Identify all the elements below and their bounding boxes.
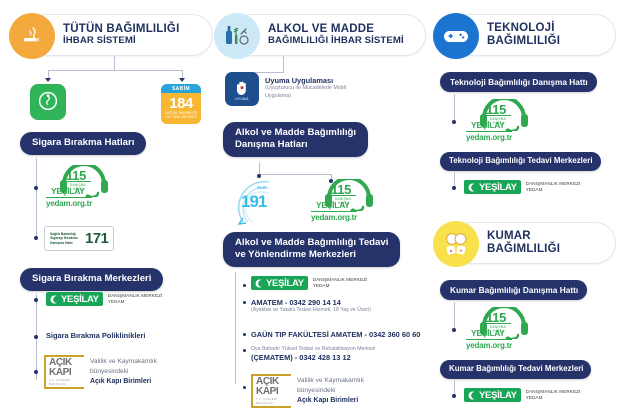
connector bbox=[36, 158, 37, 238]
yedam-subtitle: DANIŞMANLIK MERKEZİ YEDAM bbox=[526, 389, 581, 401]
yesilay-brand: YEŞİLAY bbox=[471, 120, 505, 130]
connector-dot bbox=[452, 186, 456, 190]
connector-dot bbox=[34, 186, 38, 190]
section-header-teknoloji-tedavi-merkezleri[interactable]: Teknoloji Bağımlılığı Tedavi Merkezleri bbox=[440, 150, 601, 171]
yedam-url[interactable]: yedam.org.tr bbox=[311, 211, 357, 222]
section-title: Alkol ve Madde Bağımlılığı Tedavi ve Yön… bbox=[223, 232, 400, 267]
category-title-line1: KUMAR bbox=[487, 230, 560, 243]
amatem-phone: AMATEM - 0342 290 14 14 bbox=[251, 298, 371, 307]
connector bbox=[283, 56, 284, 72]
connector-dot bbox=[34, 298, 38, 302]
acik-kapi-line2: bünyesindeki bbox=[90, 367, 157, 377]
section-title: Teknoloji Bağımlılığı Tedavi Merkezleri bbox=[440, 152, 601, 171]
sabim-label: SABİM bbox=[161, 84, 201, 93]
column-teknoloji-kumar: TEKNOLOJİ BAĞIMLILIĞI Teknoloji Bağımlıl… bbox=[432, 0, 618, 413]
category-header-teknoloji[interactable]: TEKNOLOJİ BAĞIMLILIĞI bbox=[450, 14, 616, 56]
yesilay-yedam-logo[interactable]: YEŞİLAY DANIŞMANLIK MERKEZİ YEDAM bbox=[464, 388, 580, 402]
section-title: Sigara Bırakma Merkezleri bbox=[20, 268, 163, 291]
yesilay-bar: YEŞİLAY bbox=[46, 292, 103, 306]
column-alkol-madde: ALKOL VE MADDE BAĞIMLILIĞI İHBAR SİSTEMİ… bbox=[213, 0, 428, 413]
category-title-line2: BAĞIMLILIĞI bbox=[487, 243, 560, 256]
yesilay-brand: YEŞİLAY bbox=[61, 294, 99, 305]
crescent-icon bbox=[253, 278, 264, 289]
section-title: Alkol ve Madde Bağımlılığı Danışma Hatla… bbox=[223, 122, 368, 157]
acik-kapi-logo-line3: T.C. İÇİŞLERİ BAKANLIĞI bbox=[256, 397, 291, 405]
yesilay-bar: YEŞİLAY bbox=[464, 388, 521, 402]
section-title: Teknoloji Bağımlılığı Danışma Hattı bbox=[440, 72, 597, 92]
yedam-sub2: YEDAM bbox=[526, 395, 581, 401]
bullet bbox=[243, 284, 246, 287]
yesilay-yedam-logo[interactable]: YEŞİLAY DANIŞMANLIK MERKEZİ YEDAM bbox=[46, 292, 162, 306]
alo-171-badge[interactable]: Sağlık Bakanlığı Sigarayı Bırakma Danışm… bbox=[44, 226, 114, 251]
section-header-alkol-tedavi-merkezleri[interactable]: Alkol ve Madde Bağımlılığı Tedavi ve Yön… bbox=[223, 232, 400, 267]
connector bbox=[259, 174, 331, 175]
bullet bbox=[243, 386, 246, 389]
connector-arrow bbox=[179, 78, 185, 82]
alo-184-number: 184 bbox=[161, 93, 201, 111]
yedam-subtitle: DANIŞMANLIK MERKEZİ YEDAM bbox=[108, 293, 163, 305]
crescent-icon bbox=[466, 182, 477, 193]
yesilay-bar: YEŞİLAY bbox=[251, 276, 308, 290]
uyuma-title: Uyuma Uygulaması bbox=[265, 76, 346, 85]
yedam-sub2: YEDAM bbox=[313, 283, 368, 289]
section-header-kumar-danisma-hatti[interactable]: Kumar Bağımlılığı Danışma Hattı bbox=[440, 280, 587, 300]
uyuma-sub1: (Uyuşturucu ile Mücadelede Mobil bbox=[265, 85, 346, 93]
connector bbox=[182, 70, 183, 78]
connector bbox=[259, 162, 260, 174]
column-tutun: TÜTÜN BAĞIMLILIĞI İHBAR SİSTEMİ SABİM 18… bbox=[8, 0, 213, 413]
yedam-url[interactable]: yedam.org.tr bbox=[466, 339, 512, 350]
alo-184-caption: SAĞLIK BAKANLIĞI İLETİŞİM MERKEZİ bbox=[161, 111, 201, 119]
acik-kapi-item[interactable]: AÇIK KAPI T.C. İÇİŞLERİ BAKANLIĞI Valili… bbox=[44, 355, 157, 389]
section-header-alkol-danisma-hatlari[interactable]: Alkol ve Madde Bağımlılığı Danışma Hatla… bbox=[223, 122, 368, 157]
bullet bbox=[243, 333, 246, 336]
section-title-line1: Alkol ve Madde Bağımlılığı bbox=[235, 127, 356, 139]
category-header-kumar[interactable]: KUMAR BAĞIMLILIĞI bbox=[450, 222, 616, 264]
yesilay-115-logo[interactable]: 115 DANIŞMA HATTI YEŞİLAY yedam.org.tr bbox=[44, 164, 118, 210]
connector bbox=[114, 56, 115, 70]
acik-kapi-line1: Valilik ve Kaymakamlık bbox=[297, 376, 364, 386]
yesilay-115-logo[interactable]: 115 DANIŞMA HATTI YEŞİLAY yedam.org.tr bbox=[464, 98, 538, 144]
yedam-url[interactable]: yedam.org.tr bbox=[46, 197, 92, 208]
yesilay-brand: YEŞİLAY bbox=[471, 328, 505, 338]
category-title-line2: BAĞIMLILIĞI bbox=[487, 35, 560, 48]
cematem-phone: (ÇEMATEM) - 0342 428 13 12 bbox=[251, 353, 375, 362]
connector bbox=[48, 70, 49, 78]
yesilay-yedam-logo[interactable]: YEŞİLAY DANIŞMANLIK MERKEZİ YEDAM bbox=[243, 276, 367, 290]
yesilay-yedam-logo[interactable]: YEŞİLAY DANIŞMANLIK MERKEZİ YEDAM bbox=[464, 180, 580, 194]
acik-kapi-text: Valilik ve Kaymakamlık bünyesindeki Açık… bbox=[90, 357, 157, 386]
yedam-subtitle: DANIŞMANLIK MERKEZİ YEDAM bbox=[526, 181, 581, 193]
yedam-subtitle: DANIŞMANLIK MERKEZİ YEDAM bbox=[313, 277, 368, 289]
sigara-birakma-poliklinikleri-label: Sigara Bırakma Poliklinikleri bbox=[46, 331, 145, 340]
yesilay-115-logo[interactable]: 115 DANIŞMA HATTI YEŞİLAY yedam.org.tr bbox=[309, 178, 383, 224]
yesilay-bar: YEŞİLAY bbox=[464, 180, 521, 194]
section-title-line2: ve Yönlendirme Merkezleri bbox=[235, 249, 388, 261]
crescent-icon bbox=[48, 294, 59, 305]
acik-kapi-logo: AÇIK KAPI T.C. İÇİŞLERİ BAKANLIĞI bbox=[251, 374, 291, 408]
yesilay-brand: YEŞİLAY bbox=[479, 390, 517, 401]
yesilay-115-logo[interactable]: 115 DANIŞMA HATTI YEŞİLAY yedam.org.tr bbox=[464, 306, 538, 352]
yedam-url[interactable]: yedam.org.tr bbox=[466, 131, 512, 142]
category-title-line2: BAĞIMLILIĞI İHBAR SİSTEMİ bbox=[268, 36, 404, 47]
connector bbox=[48, 70, 182, 71]
connector-dot bbox=[34, 335, 38, 339]
uyuma-sub2: Uygulama) bbox=[265, 93, 346, 101]
connector-arrow bbox=[45, 78, 51, 82]
uyuma-logo-label: UYUMA bbox=[235, 97, 249, 101]
connector-dot bbox=[452, 394, 456, 398]
alo-191-logo[interactable]: ALO 191 bbox=[235, 178, 297, 226]
yedam-sub2: YEDAM bbox=[108, 299, 163, 305]
section-title: Sigara Bırakma Hatları bbox=[20, 132, 146, 155]
acik-kapi-logo-line3: T.C. İÇİŞLERİ BAKANLIĞI bbox=[49, 378, 84, 386]
acik-kapi-item[interactable]: AÇIK KAPI T.C. İÇİŞLERİ BAKANLIĞI Valili… bbox=[243, 374, 364, 408]
acik-kapi-text: Valilik ve Kaymakamlık bünyesindeki Açık… bbox=[297, 376, 364, 405]
alo-label: ALO bbox=[257, 185, 266, 190]
connector bbox=[235, 272, 236, 384]
acik-kapi-logo: AÇIK KAPI T.C. İÇİŞLERİ BAKANLIĞI bbox=[44, 355, 84, 389]
gaun-amatem-entry[interactable]: GAÜN TIP FAKÜLTESİ AMATEM - 0342 360 60 … bbox=[243, 330, 433, 339]
alo-171-caption: Sağlık Bakanlığı Sigarayı Bırakma Danışm… bbox=[50, 232, 82, 245]
category-title-line2: İHBAR SİSTEMİ bbox=[63, 36, 179, 47]
acik-kapi-line1: Valilik ve Kaymakamlık bbox=[90, 357, 157, 367]
connector-dot bbox=[452, 328, 456, 332]
bottle-syringe-icon bbox=[214, 13, 260, 59]
section-title: Kumar Bağımlılığı Tedavi Merkezleri bbox=[440, 360, 591, 379]
connector-dot bbox=[452, 120, 456, 124]
section-header-kumar-tedavi-merkezleri[interactable]: Kumar Bağımlılığı Tedavi Merkezleri bbox=[440, 358, 591, 379]
acik-kapi-line3: Açık Kapı Birimleri bbox=[90, 378, 151, 385]
amatem-note: (Ayaktan ve Yataklı Tedavi Hizmeti, 18 Y… bbox=[251, 307, 371, 314]
acik-kapi-line2: bünyesindeki bbox=[297, 386, 364, 396]
alo-184-badge[interactable]: SABİM 184 SAĞLIK BAKANLIĞI İLETİŞİM MERK… bbox=[161, 84, 201, 124]
section-header-teknoloji-danisma-hatti[interactable]: Teknoloji Bağımlılığı Danışma Hattı bbox=[440, 72, 597, 92]
category-title-line1: TEKNOLOJİ bbox=[487, 22, 560, 35]
acik-kapi-logo-line2: KAPI bbox=[256, 387, 291, 397]
alo-171-number: 171 bbox=[85, 230, 108, 247]
category-header-alkol-madde[interactable]: ALKOL VE MADDE BAĞIMLILIĞI İHBAR SİSTEMİ bbox=[231, 14, 426, 56]
acik-kapi-logo-line2: KAPI bbox=[49, 368, 84, 378]
section-title-line2: Danışma Hatları bbox=[235, 139, 356, 151]
cematem-entry[interactable]: Oya Bahadır Yüksel Tedavi ve Rehabilitas… bbox=[243, 346, 433, 362]
crescent-icon bbox=[466, 390, 477, 401]
cigarette-icon bbox=[9, 13, 55, 59]
section-title-line1: Alkol ve Madde Bağımlılığı Tedavi bbox=[235, 237, 388, 249]
section-header-sigara-birakma-merkezleri[interactable]: Sigara Bırakma Merkezleri bbox=[20, 268, 163, 291]
connector-dot bbox=[34, 236, 38, 240]
yesilay-brand: YEŞİLAY bbox=[51, 186, 85, 196]
gaun-amatem-phone: GAÜN TIP FAKÜLTESİ AMATEM - 0342 360 60 … bbox=[251, 330, 420, 339]
acik-kapi-line3: Açık Kapı Birimleri bbox=[297, 397, 358, 404]
section-header-sigara-birakma-hatlari[interactable]: Sigara Bırakma Hatları bbox=[20, 132, 146, 155]
bullet bbox=[243, 349, 246, 352]
bullet bbox=[243, 301, 246, 304]
amatem-entry[interactable]: AMATEM - 0342 290 14 14 (Ayaktan ve Yata… bbox=[243, 298, 428, 314]
yesil-dedektor-app-icon[interactable] bbox=[30, 84, 66, 120]
yedam-sub2: YEDAM bbox=[526, 187, 581, 193]
cematem-note: Oya Bahadır Yüksel Tedavi ve Rehabilitas… bbox=[251, 346, 375, 353]
dice-cards-icon bbox=[433, 221, 479, 267]
section-title: Kumar Bağımlılığı Danışma Hattı bbox=[440, 280, 587, 300]
uyuma-app-text: Uyuma Uygulaması (Uyuşturucu ile Mücadel… bbox=[265, 76, 346, 101]
uyuma-app-icon[interactable]: UYUMA bbox=[225, 72, 259, 106]
yesilay-brand: YEŞİLAY bbox=[479, 182, 517, 193]
alo-191-number: 191 bbox=[241, 192, 266, 212]
gamepad-icon bbox=[433, 13, 479, 59]
connector-dot bbox=[34, 370, 38, 374]
category-header-tutun[interactable]: TÜTÜN BAĞIMLILIĞI İHBAR SİSTEMİ bbox=[26, 14, 213, 56]
yesilay-brand: YEŞİLAY bbox=[316, 200, 350, 210]
yesilay-brand: YEŞİLAY bbox=[266, 278, 304, 289]
